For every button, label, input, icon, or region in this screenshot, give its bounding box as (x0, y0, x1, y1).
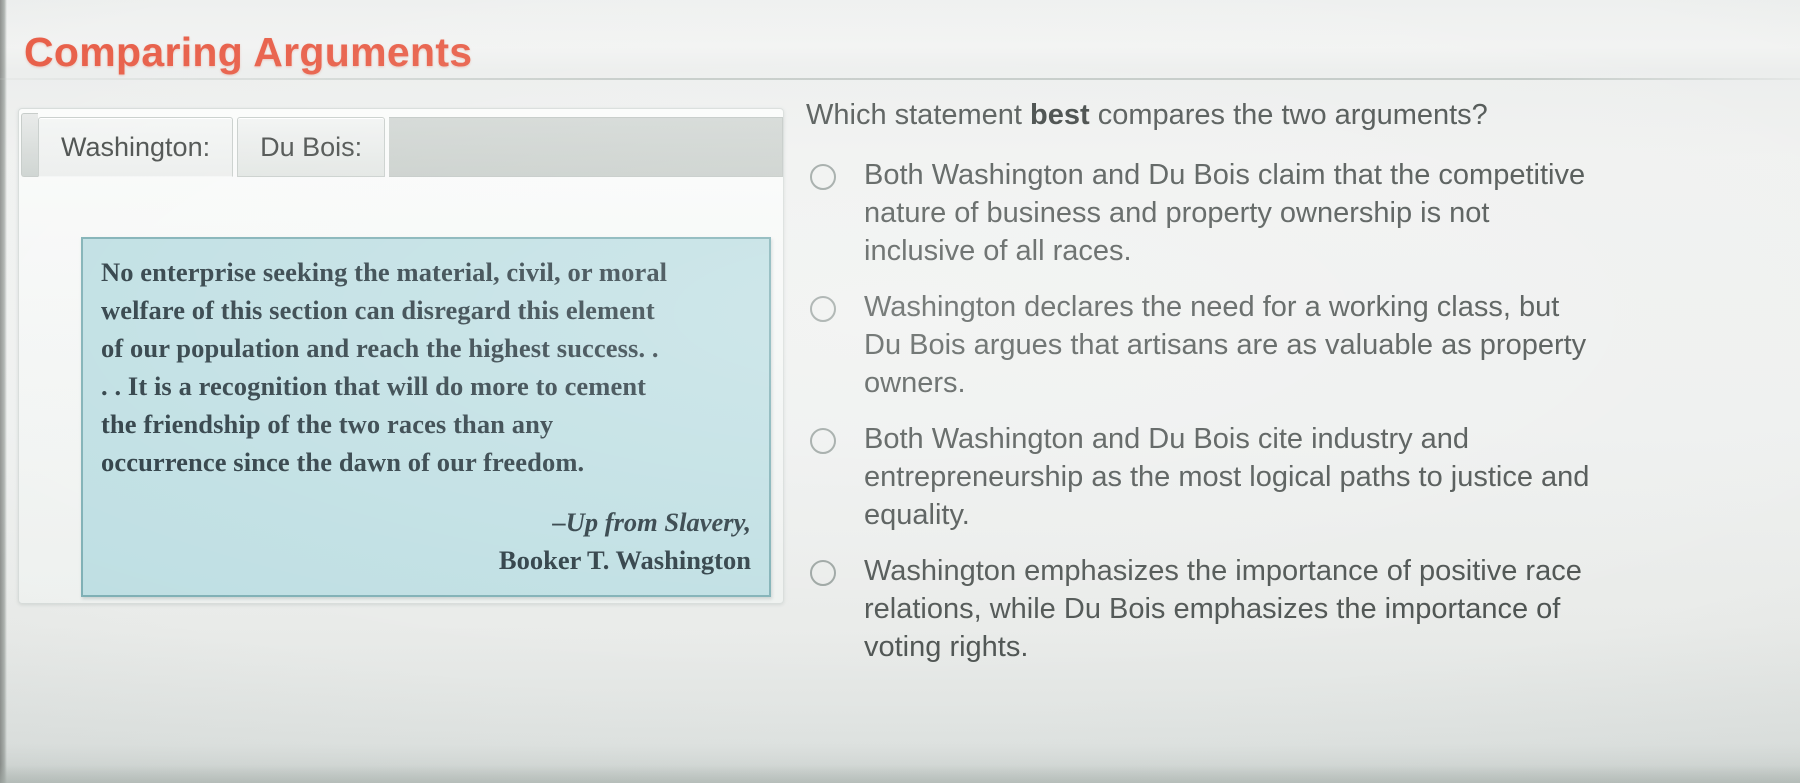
quote-author: Booker T. Washington (101, 541, 751, 579)
question-panel: Which statement best compares the two ar… (800, 96, 1800, 783)
answer-option-d[interactable]: Washington emphasizes the importance of … (800, 552, 1800, 666)
display-bezel-bottom (0, 765, 1800, 783)
tab-strip-filler (389, 117, 783, 177)
quote-attribution: –Up from Slavery, Booker T. Washington (101, 503, 751, 579)
radio-button-icon[interactable] (810, 296, 836, 322)
tab-du-bois[interactable]: Du Bois: (237, 117, 385, 177)
answer-option-c[interactable]: Both Washington and Du Bois cite industr… (800, 420, 1800, 534)
quote-line: the friendship of the two races than any (101, 405, 751, 443)
question-prompt: Which statement best compares the two ar… (806, 96, 1800, 134)
question-prompt-after: compares the two arguments? (1090, 99, 1488, 131)
answer-option-b-label: Washington declares the need for a worki… (864, 288, 1604, 402)
question-prompt-emphasis: best (1030, 99, 1090, 131)
tab-du-bois-label: Du Bois: (260, 132, 362, 163)
answer-option-d-label: Washington emphasizes the importance of … (864, 552, 1604, 666)
screen-surface: Comparing Arguments Washington: Du Bois:… (0, 0, 1800, 783)
radio-button-icon[interactable] (810, 428, 836, 454)
title-divider (0, 78, 1800, 80)
quote-line: welfare of this section can disregard th… (101, 291, 751, 329)
radio-button-icon[interactable] (810, 560, 836, 586)
quote-box: No enterprise seeking the material, civi… (81, 237, 771, 597)
quote-line: of our population and reach the highest … (101, 329, 751, 367)
quote-source-title: –Up from Slavery, (101, 503, 751, 541)
radio-button-icon[interactable] (810, 164, 836, 190)
quote-line: No enterprise seeking the material, civi… (101, 253, 751, 291)
tab-strip-accent (21, 113, 38, 177)
tab-washington-label: Washington: (61, 132, 210, 163)
answer-option-b[interactable]: Washington declares the need for a worki… (800, 288, 1800, 402)
question-prompt-before: Which statement (806, 99, 1030, 131)
quote-line: occurrence since the dawn of our freedom… (101, 443, 751, 481)
answer-option-a-label: Both Washington and Du Bois claim that t… (864, 156, 1604, 270)
page-title: Comparing Arguments (24, 29, 472, 76)
tab-strip: Washington: Du Bois: (19, 115, 783, 177)
tab-washington[interactable]: Washington: (38, 117, 233, 177)
answer-option-c-label: Both Washington and Du Bois cite industr… (864, 420, 1604, 534)
passage-panel: Washington: Du Bois: No enterprise seeki… (18, 108, 784, 604)
answer-option-a[interactable]: Both Washington and Du Bois claim that t… (800, 156, 1800, 270)
display-bezel-left (0, 0, 7, 783)
quote-line: . . It is a recognition that will do mor… (101, 367, 751, 405)
